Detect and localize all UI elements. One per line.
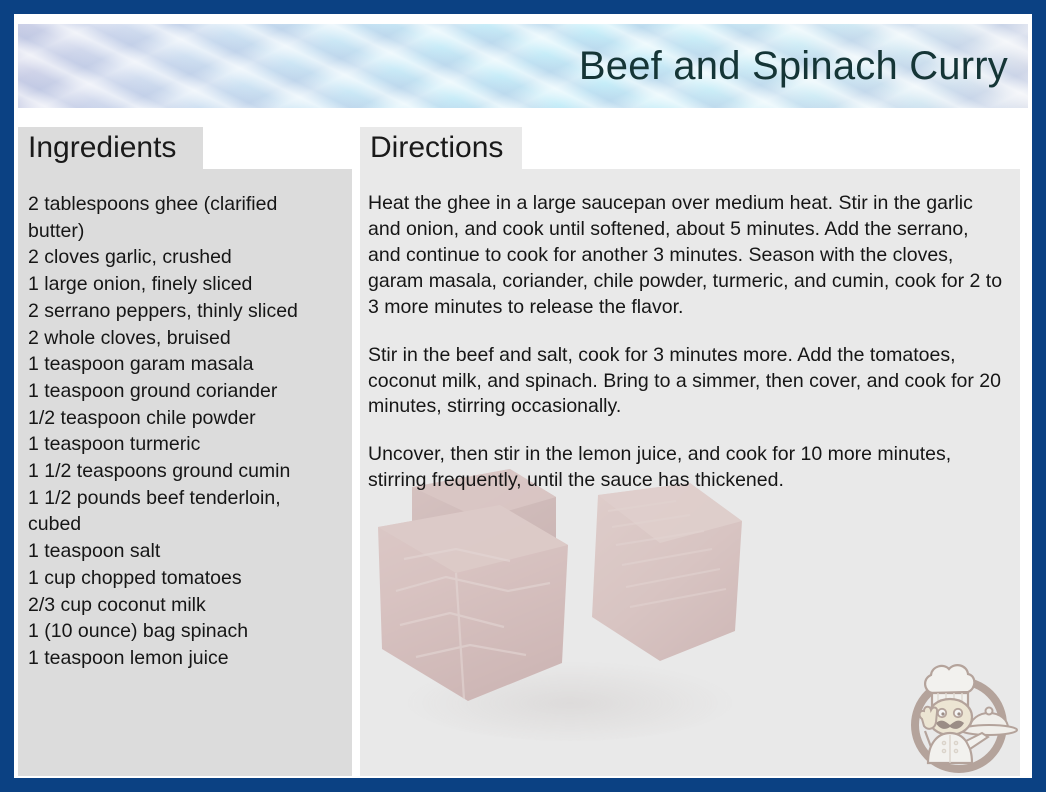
ingredient-item: 1/2 teaspoon chile powder xyxy=(28,405,338,432)
ingredient-item: 2 cloves garlic, crushed xyxy=(28,244,338,271)
direction-paragraph: Stir in the beef and salt, cook for 3 mi… xyxy=(368,343,1004,421)
direction-paragraph: Heat the ghee in a large saucepan over m… xyxy=(368,191,1004,321)
ingredient-item: 2 whole cloves, bruised xyxy=(28,325,338,352)
ingredient-item: 1 teaspoon lemon juice xyxy=(28,645,338,672)
recipe-title: Beef and Spinach Curry xyxy=(579,46,1008,86)
ingredient-item: 1 cup chopped tomatoes xyxy=(28,565,338,592)
ingredients-panel: 2 tablespoons ghee (clarified butter)2 c… xyxy=(18,169,352,776)
ingredients-list: 2 tablespoons ghee (clarified butter)2 c… xyxy=(28,191,338,672)
frame-left-border xyxy=(0,0,14,792)
directions-panel: Heat the ghee in a large saucepan over m… xyxy=(360,169,1020,776)
ingredient-item: 1 1/2 teaspoons ground cumin xyxy=(28,458,338,485)
recipe-card: Beef and Spinach Curry Ingredients Direc… xyxy=(0,0,1046,792)
ingredient-item: 1 teaspoon garam masala xyxy=(28,351,338,378)
frame-bottom-border xyxy=(0,778,1046,792)
ingredient-item: 2 tablespoons ghee (clarified butter) xyxy=(28,191,338,244)
cubed-beef-photo xyxy=(360,449,780,776)
directions-heading-label: Directions xyxy=(370,133,503,163)
directions-text: Heat the ghee in a large saucepan over m… xyxy=(368,191,1004,494)
ingredient-item: 1 (10 ounce) bag spinach xyxy=(28,618,338,645)
ingredient-item: 1 1/2 pounds beef tenderloin, cubed xyxy=(28,485,338,538)
direction-paragraph: Uncover, then stir in the lemon juice, a… xyxy=(368,442,1004,494)
ingredient-item: 1 teaspoon salt xyxy=(28,538,338,565)
ingredient-item: 2/3 cup coconut milk xyxy=(28,592,338,619)
frame-right-border xyxy=(1032,0,1046,792)
ingredient-item: 2 serrano peppers, thinly sliced xyxy=(28,298,338,325)
ingredient-item: 1 teaspoon turmeric xyxy=(28,431,338,458)
ingredient-item: 1 teaspoon ground coriander xyxy=(28,378,338,405)
frame-top-border xyxy=(0,0,1046,14)
title-banner: Beef and Spinach Curry xyxy=(18,24,1028,108)
ingredient-item: 1 large onion, finely sliced xyxy=(28,271,338,298)
ingredients-heading-tab: Ingredients xyxy=(18,127,203,169)
directions-heading-tab: Directions xyxy=(360,127,522,169)
ingredients-heading-label: Ingredients xyxy=(28,133,176,163)
